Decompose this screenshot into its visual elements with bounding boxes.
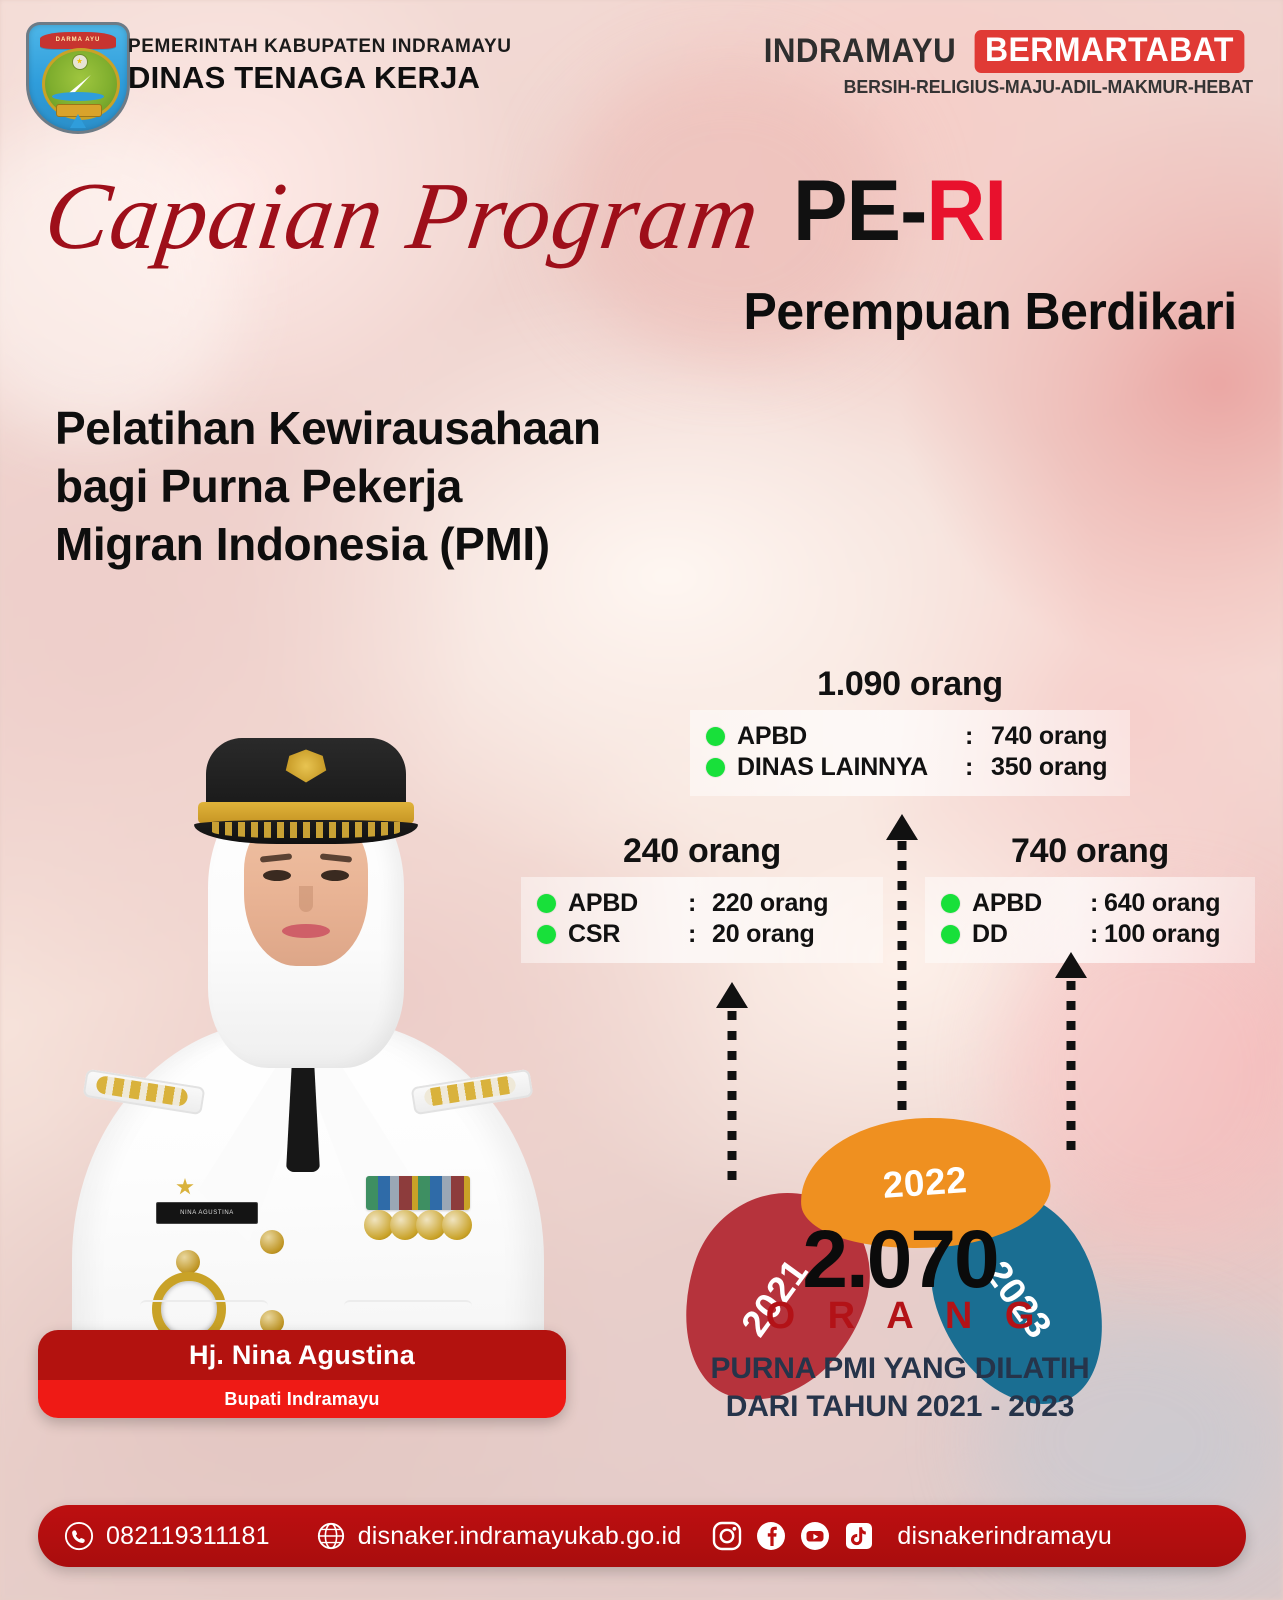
website-contact[interactable]: disnaker.indramayukab.go.id <box>316 1521 682 1551</box>
stat-separator: : <box>1090 889 1104 918</box>
contact-footer-bar: 082119311181 disnaker.indramayukab.go.id <box>38 1505 1246 1567</box>
acronym-expansion: Perempuan Berdikari <box>744 282 1237 342</box>
bullet-dot-icon <box>706 758 725 777</box>
phone-contact[interactable]: 082119311181 <box>64 1521 270 1551</box>
indramayu-regency-crest-icon: DARMA AYU <box>26 22 130 134</box>
stat-card-2023: 740 orang APBD : 640 orang DD : 100 oran… <box>925 832 1255 963</box>
brand-tagline: BERSIH-RELIGIUS-MAJU-ADIL-MAKMUR-HEBAT <box>767 76 1253 98</box>
stat-total-2023: 740 orang <box>925 832 1255 871</box>
facebook-icon[interactable] <box>755 1520 787 1552</box>
brand-word-bermartabat: BERMARTABAT <box>975 30 1245 73</box>
bullet-dot-icon <box>706 727 725 746</box>
svg-text:Capaian Program: Capaian Program <box>48 162 766 268</box>
stat-value: 20 orang <box>712 920 815 949</box>
summary-caption: PURNA PMI YANG DILATIH DARI TAHUN 2021 -… <box>640 1350 1160 1425</box>
header: DARMA AYU PEMERINTAH KABUPATEN INDRAMAYU… <box>0 0 1283 126</box>
stat-card-2022: 1.090 orang APBD : 740 orang DINAS LAINN… <box>690 665 1130 796</box>
youtube-icon[interactable] <box>799 1520 831 1552</box>
social-handle: disnakerindramayu <box>897 1522 1112 1551</box>
stat-value: 740 orang <box>991 722 1107 751</box>
city-brand-lockup: INDRAMAYU BERMARTABAT BERSIH-RELIGIUS-MA… <box>747 30 1253 98</box>
uniform-nameplate: NINA AGUSTINA <box>156 1202 258 1224</box>
stat-card-2021: 240 orang APBD : 220 orang CSR : 20 oran… <box>521 832 883 963</box>
stat-value: 100 orang <box>1104 920 1220 949</box>
stat-row: APBD : 220 orang <box>537 889 867 918</box>
person-role: Bupati Indramayu <box>224 1389 379 1410</box>
stat-label: APBD <box>737 722 965 751</box>
stat-label: APBD <box>568 889 688 918</box>
stat-total-2022: 1.090 orang <box>690 665 1130 704</box>
stat-row: DINAS LAINNYA : 350 orang <box>706 753 1114 782</box>
subtitle-line-2: bagi Purna Pekerja <box>55 458 601 516</box>
stat-row: APBD : 640 orang <box>941 889 1239 918</box>
bullet-dot-icon <box>941 925 960 944</box>
program-subtitle: Pelatihan Kewirausahaan bagi Purna Peker… <box>55 400 601 574</box>
bullet-dot-icon <box>537 925 556 944</box>
bullet-dot-icon <box>537 894 556 913</box>
stat-label: CSR <box>568 920 688 949</box>
subtitle-line-3: Migran Indonesia (PMI) <box>55 516 601 574</box>
stat-label: APBD <box>972 889 1090 918</box>
grand-total: 2.070 O R A N G <box>690 1222 1110 1338</box>
grand-total-number: 2.070 <box>690 1222 1110 1297</box>
acronym-ri: RI <box>926 163 1006 259</box>
agency-name: DINAS TENAGA KERJA <box>128 60 480 96</box>
script-title-capaian-program: Capaian Program <box>48 160 768 280</box>
person-name: Hj. Nina Agustina <box>189 1340 415 1371</box>
stat-value: 350 orang <box>991 753 1107 782</box>
phone-number: 082119311181 <box>106 1522 270 1551</box>
acronym-pe: PE- <box>793 163 926 259</box>
website-url: disnaker.indramayukab.go.id <box>358 1522 682 1551</box>
phone-icon <box>64 1521 94 1551</box>
stat-separator: : <box>688 920 712 949</box>
caption-line-2: DARI TAHUN 2021 - 2023 <box>640 1388 1160 1426</box>
stat-label: DINAS LAINNYA <box>737 753 965 782</box>
medals <box>364 1210 476 1244</box>
grand-total-unit: O R A N G <box>690 1295 1110 1338</box>
tiktok-icon[interactable] <box>843 1520 875 1552</box>
stat-label: DD <box>972 920 1090 949</box>
instagram-icon[interactable] <box>711 1520 743 1552</box>
stat-row: APBD : 740 orang <box>706 722 1114 751</box>
stat-total-2021: 240 orang <box>521 832 883 871</box>
stat-separator: : <box>1090 920 1104 949</box>
caption-line-1: PURNA PMI YANG DILATIH <box>640 1350 1160 1388</box>
bullet-dot-icon <box>941 894 960 913</box>
program-acronym: PE-RI <box>793 168 1006 254</box>
year-label-2022: 2022 <box>881 1159 968 1207</box>
crest-motto: DARMA AYU <box>40 32 116 49</box>
stat-row: CSR : 20 orang <box>537 920 867 949</box>
person-name-banner: Hj. Nina Agustina Bupati Indramayu <box>38 1330 566 1418</box>
government-line: PEMERINTAH KABUPATEN INDRAMAYU <box>128 36 512 58</box>
subtitle-line-1: Pelatihan Kewirausahaan <box>55 400 601 458</box>
social-icon-group <box>711 1520 875 1552</box>
stat-value: 220 orang <box>712 889 828 918</box>
stat-separator: : <box>965 753 991 782</box>
poster-canvas: DARMA AYU PEMERINTAH KABUPATEN INDRAMAYU… <box>0 0 1283 1600</box>
globe-icon <box>316 1521 346 1551</box>
official-portrait: NINA AGUSTINA <box>48 690 568 1390</box>
stat-separator: : <box>965 722 991 751</box>
service-ribbons <box>366 1176 470 1210</box>
brand-word-indramayu: INDRAMAYU <box>764 32 956 71</box>
stat-separator: : <box>688 889 712 918</box>
stat-value: 640 orang <box>1104 889 1220 918</box>
stat-row: DD : 100 orang <box>941 920 1239 949</box>
